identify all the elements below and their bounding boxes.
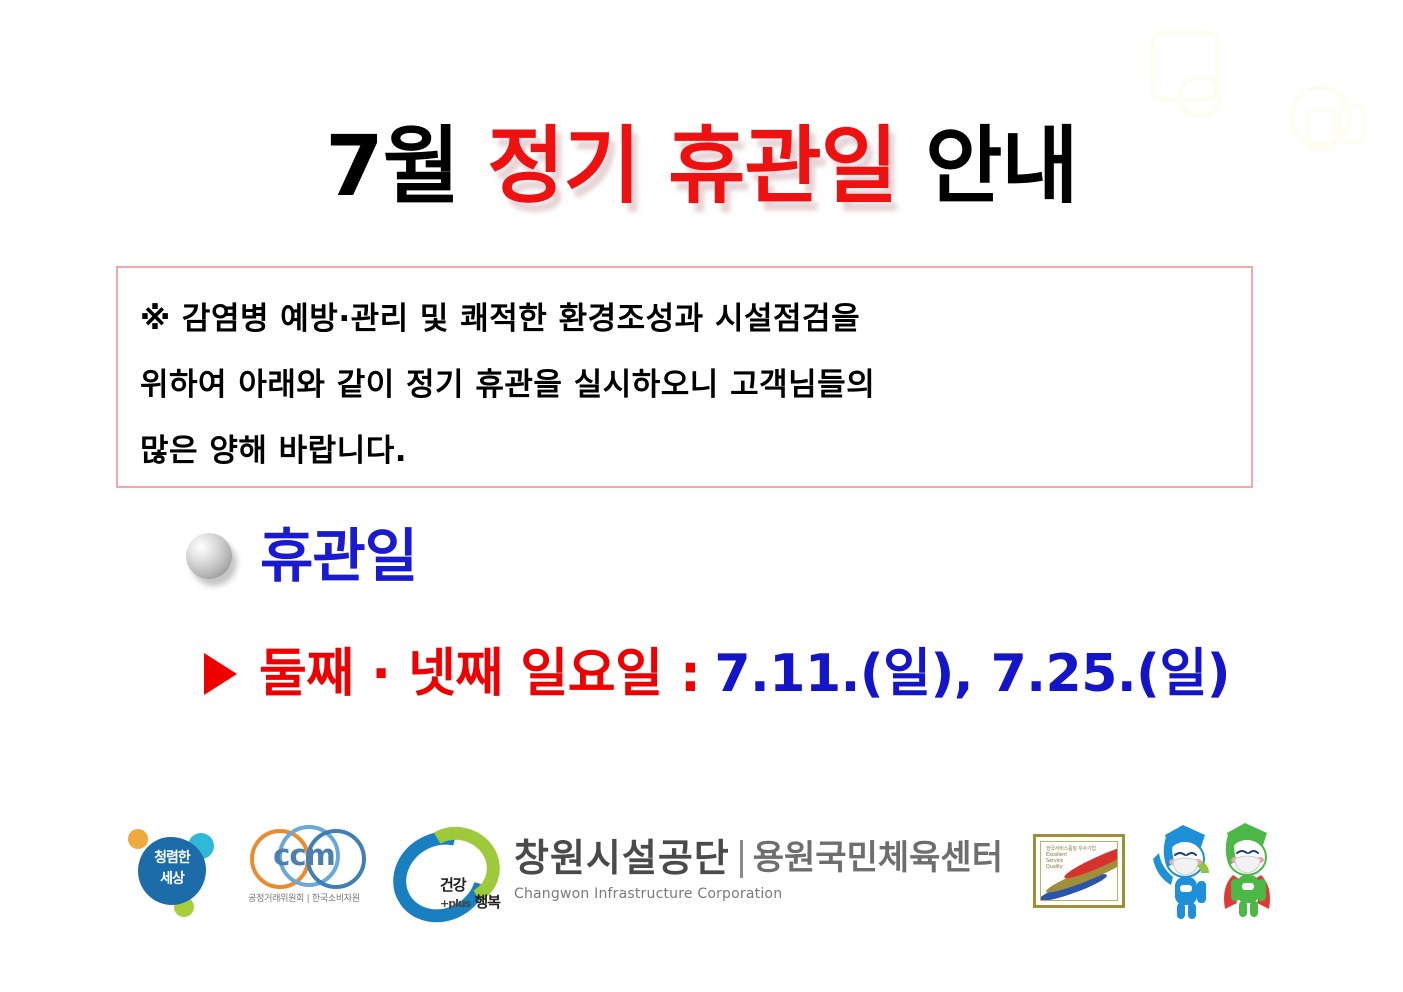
integrity-line-1: 청렴한 [154,850,190,866]
notice-line-1: ※ 감염병 예방·관리 및 쾌적한 환경조성과 시설점검을 [140,286,1232,352]
logo-strip: 청렴한 세상 ccm 공정거래위원회 | 한국소비자원 건강 +plus 행복 [0,808,1403,933]
changwon-wordmark-row: 창원시설공단 용원국민체육센터 [514,839,1003,879]
integrity-blob-text: 청렴한 세상 [138,848,206,890]
blue-mascot [1153,825,1209,919]
changwon-name: 창원시설공단 [514,839,730,879]
page-title: 7월 정기 휴관일 안내 [0,118,1403,215]
mascot-characters [1153,819,1281,923]
ccm-wordmark: ccm [244,838,364,872]
closing-days-heading: 휴관일 [186,527,417,585]
certification-inner-frame: 한국서비스품질 우수기업 Excellent Service Quality [1040,841,1118,901]
closing-schedule-row: 둘째 · 넷째 일요일 : 7.11.(일), 7.25.(일) [204,648,1230,700]
mascots-illustration [1153,819,1281,923]
integrity-blob: 청렴한 세상 [138,837,206,905]
ccm-logo: ccm 공정거래위원회 | 한국소비자원 [244,821,364,921]
certification-caption: 한국서비스품질 우수기업 Excellent Service Quality [1046,846,1096,870]
watermark-shape-2 [1178,75,1222,119]
health-happiness-logo: 건강 +plus 행복 [388,821,496,921]
schedule-label: 둘째 · 넷째 일요일 : [259,648,700,700]
health-happiness-text: 건강 +plus 행복 [440,877,500,912]
ccm-caption: 공정거래위원회 | 한국소비자원 [244,891,364,904]
notice-line-3: 많은 양해 바랍니다. [140,418,1232,484]
health-line-1: 건강 [440,876,466,894]
integrity-logo: 청렴한 세상 [122,821,222,921]
health-line-2: 행복 [474,893,500,911]
notice-box: ※ 감염병 예방·관리 및 쾌적한 환경조성과 시설점검을 위하여 아래와 같이… [116,266,1253,488]
closing-days-heading-label: 휴관일 [260,527,417,585]
watermark-shape-1 [1150,30,1220,102]
triangle-arrow-icon [204,653,237,695]
notice-text: ※ 감염병 예방·관리 및 쾌적한 환경조성과 시설점검을 위하여 아래와 같이… [140,286,1232,484]
title-part-highlight: 정기 휴관일 [487,117,897,215]
changwon-facility-name: 용원국민체육센터 [753,841,1003,877]
changwon-divider [740,840,743,878]
notice-poster: 7월 정기 휴관일 안내 ※ 감염병 예방·관리 및 쾌적한 환경조성과 시설점… [0,0,1403,992]
service-quality-certification-mark: 한국서비스품질 우수기업 Excellent Service Quality [1033,834,1125,908]
certification-english-3: Quality [1046,864,1062,870]
changwon-wordmark-logo: 창원시설공단 용원국민체육센터 Changwon Infrastructure … [514,839,1003,902]
integrity-dot-orange [128,829,148,849]
title-part-month: 7월 [325,117,487,215]
notice-line-2: 위하여 아래와 같이 정기 휴관을 실시하오니 고객님들의 [140,352,1232,418]
green-mascot [1224,823,1270,917]
schedule-dates: 7.11.(일), 7.25.(일) [714,648,1230,700]
integrity-line-2: 세상 [160,871,184,887]
changwon-english-name: Changwon Infrastructure Corporation [514,886,1003,902]
ccm-rings-icon: ccm [244,821,364,887]
title-part-suffix: 안내 [897,117,1078,215]
sphere-bullet-icon [186,533,232,579]
health-plus: +plus [440,897,470,910]
